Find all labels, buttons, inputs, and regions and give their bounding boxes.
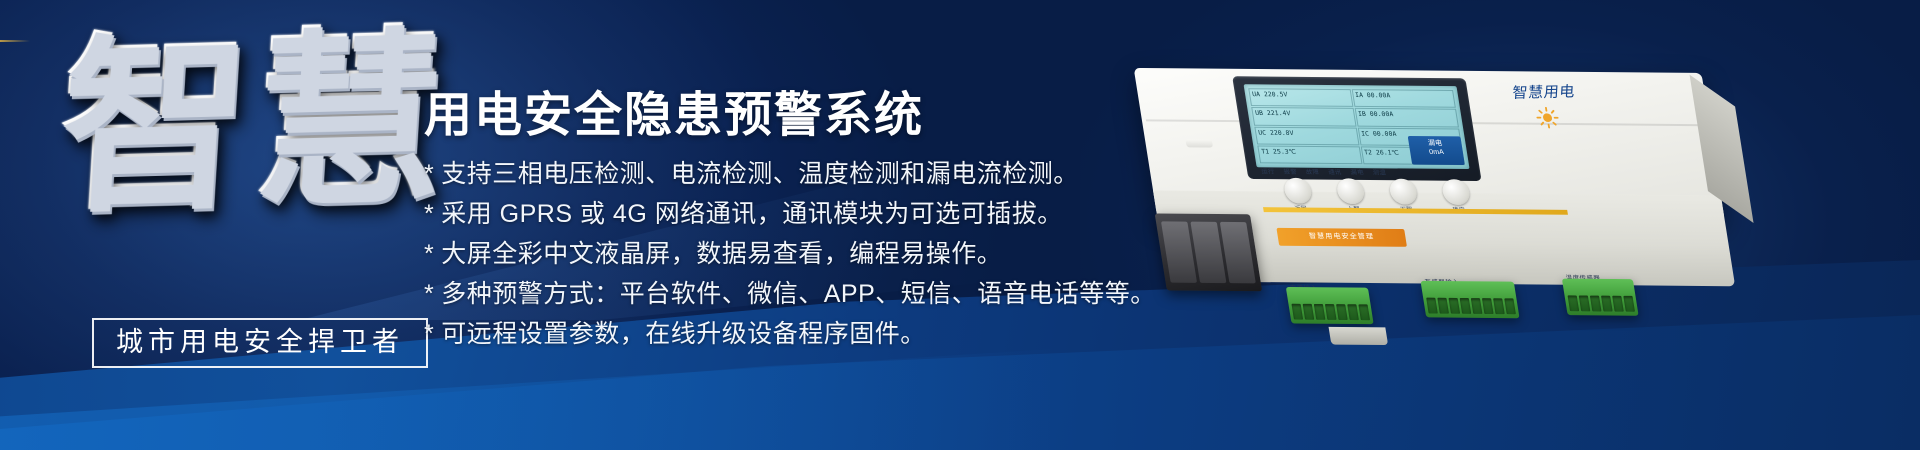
lcd-reading: IB 00.00A — [1354, 108, 1459, 127]
list-item-label: 支持三相电压检测、电流检测、温度检测和漏电流检测。 — [441, 160, 1079, 188]
lcd-reading: IA 00.00A — [1351, 89, 1456, 108]
terminal-pin — [1448, 298, 1460, 314]
bullet-marker-icon: * — [424, 318, 434, 351]
terminal-pin — [1579, 295, 1591, 311]
terminal-pin — [1493, 298, 1505, 314]
list-item: *采用 GPRS 或 4G 网络通讯，通讯模块为可选可插拔。 — [424, 198, 1156, 231]
list-item-label: 多种预警方式：平台软件、微信、APP、短信、语音电话等等。 — [441, 280, 1156, 308]
status-label: 运行 — [1261, 167, 1276, 176]
device-ok-button[interactable]: 确定 — [1441, 179, 1471, 205]
terminal-pin — [1358, 304, 1370, 320]
sun-icon — [1535, 107, 1561, 129]
brand-script-logo: 智慧用电 — [1480, 80, 1605, 104]
leakage-badge-label: 漏电 — [1408, 139, 1462, 148]
tagline-box: 城市用电安全捍卫者 — [92, 318, 428, 368]
terminal-pin — [1291, 304, 1303, 320]
product-image: UA 220.5V IA 00.00A UB 221.4V IB 00.00A … — [1080, 8, 1910, 408]
device-back-button[interactable]: 返回 — [1283, 178, 1313, 204]
list-item: *可远程设置参数，在线升级设备程序固件。 — [424, 318, 1156, 351]
gold-accent-line — [0, 40, 30, 42]
status-label: 漏电 — [1350, 167, 1365, 176]
terminal-pin — [1601, 296, 1613, 312]
status-label: 故障 — [1305, 167, 1320, 176]
green-terminal-block — [1420, 281, 1519, 318]
bullet-marker-icon: * — [424, 278, 434, 311]
list-item-label: 可远程设置参数，在线升级设备程序固件。 — [441, 320, 926, 348]
terminal-pin — [1347, 304, 1359, 320]
terminal-pin — [1460, 298, 1472, 314]
lcd-reading: UC 220.8V — [1254, 126, 1359, 145]
terminal-pin — [1590, 296, 1602, 312]
connector-pin — [1220, 222, 1256, 283]
terminal-pin — [1612, 296, 1624, 312]
bullet-marker-icon: * — [424, 238, 434, 271]
page-title: 用电安全隐患预警系统 — [424, 88, 924, 144]
terminal-pin — [1623, 296, 1635, 312]
lcd-reading: T1 25.3℃ — [1257, 145, 1362, 164]
status-label: 报警 — [1283, 167, 1298, 176]
green-terminal-block — [1562, 279, 1639, 316]
lcd-screen: UA 220.5V IA 00.00A UB 221.4V IB 00.00A … — [1244, 84, 1470, 169]
list-item-label: 采用 GPRS 或 4G 网络通讯，通讯模块为可选可插拔。 — [441, 200, 1062, 228]
din-rail-clip — [1329, 327, 1389, 345]
calligraphy-text: 智慧 — [54, 17, 437, 227]
green-terminal-block — [1286, 287, 1374, 324]
device-up-button[interactable]: 上翻 — [1335, 178, 1365, 204]
terminal-pin — [1568, 295, 1580, 311]
terminal-pin — [1426, 298, 1438, 314]
leakage-badge: 漏电 0mA — [1408, 136, 1465, 165]
terminal-pin — [1314, 304, 1326, 320]
leakage-badge-value: 0mA — [1410, 148, 1464, 157]
tagline-text: 城市用电安全捍卫者 — [116, 327, 404, 357]
device-button-row: 返回 上翻 下翻 确定 — [1282, 176, 1591, 208]
status-label: 通讯 — [1327, 167, 1342, 176]
terminal-pin — [1471, 298, 1483, 314]
list-item: *支持三相电压检测、电流检测、温度检测和漏电流检测。 — [424, 158, 1156, 191]
list-item: *大屏全彩中文液晶屏，数据易查看，编程易操作。 — [424, 238, 1156, 271]
list-item: *多种预警方式：平台软件、微信、APP、短信、语音电话等等。 — [424, 278, 1156, 311]
bullet-marker-icon: * — [424, 158, 434, 191]
calligraphy-block: 智慧 — [60, 22, 430, 252]
device-down-button[interactable]: 下翻 — [1388, 179, 1418, 205]
lcd-reading: UA 220.5V — [1248, 88, 1353, 107]
status-label: 测温 — [1372, 168, 1387, 177]
terminal-pin — [1437, 298, 1449, 314]
black-connector-block — [1155, 213, 1263, 291]
promo-banner: 智慧 城市用电安全捍卫者 用电安全隐患预警系统 *支持三相电压检测、电流检测、温… — [0, 0, 1920, 450]
bullet-marker-icon: * — [424, 198, 434, 231]
device-brand-badge: 智慧用电安全管理 — [1276, 228, 1407, 247]
feature-list: *支持三相电压检测、电流检测、温度检测和漏电流检测。 *采用 GPRS 或 4G… — [424, 158, 1156, 358]
list-item-label: 大屏全彩中文液晶屏，数据易查看，编程易操作。 — [441, 240, 1002, 268]
device-clip-nub — [1185, 139, 1213, 147]
terminal-pin — [1336, 304, 1348, 320]
terminal-pin — [1325, 304, 1337, 320]
terminal-pin — [1482, 298, 1494, 314]
lcd-reading: UB 221.4V — [1251, 107, 1356, 126]
terminal-pin — [1504, 298, 1516, 314]
terminal-pin — [1303, 304, 1315, 320]
